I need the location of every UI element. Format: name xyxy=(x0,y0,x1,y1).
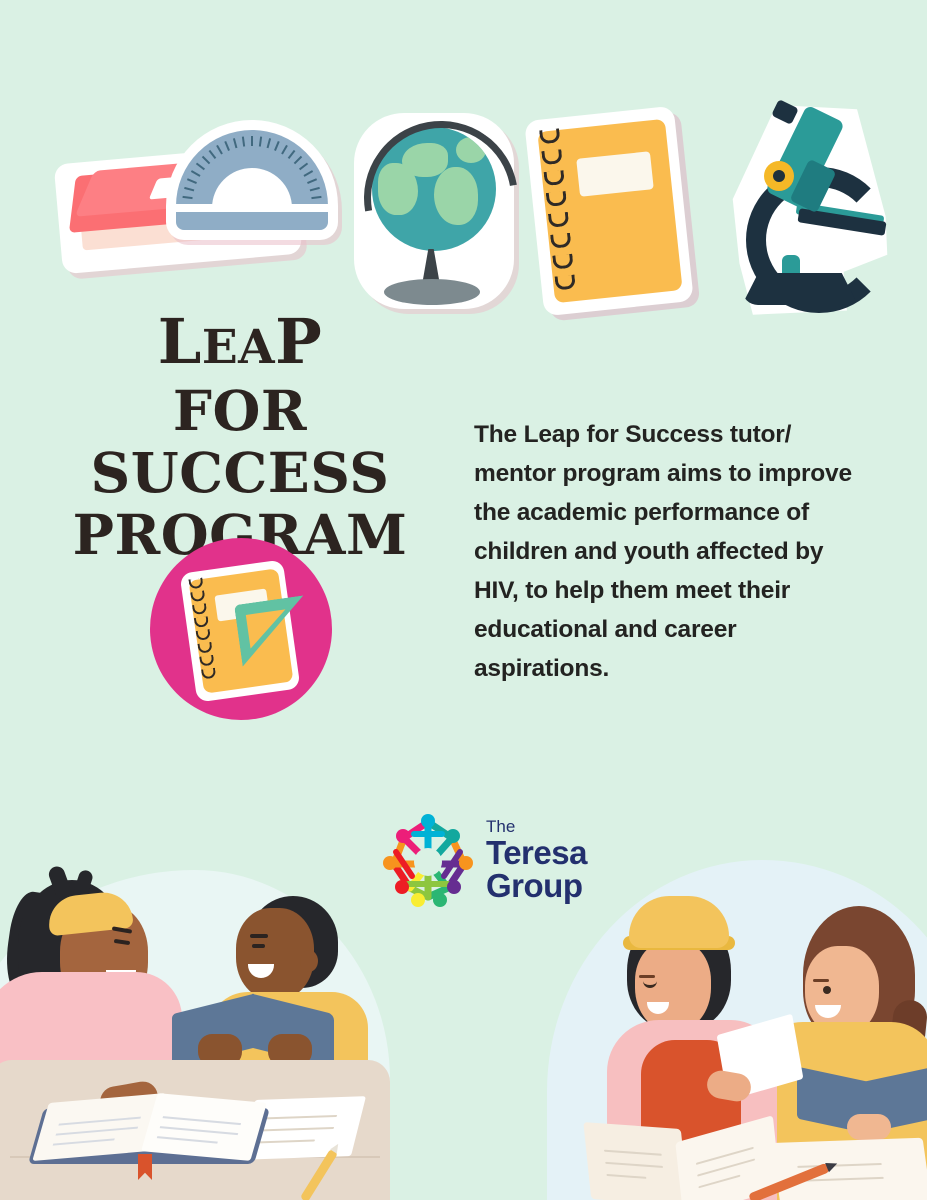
boy-ear xyxy=(300,950,318,972)
student2-eyebrow xyxy=(813,979,829,982)
poster-headline: LEAP FOR SUCCESS PROGRAM xyxy=(40,310,440,566)
program-description: The Leap for Success tutor/ mentor progr… xyxy=(474,415,874,688)
notebook-label xyxy=(576,151,654,197)
globe-base xyxy=(384,279,480,305)
boy-eyebrow xyxy=(250,934,268,938)
poster-canvas: LEAP FOR SUCCESS PROGRAM The Leap for Su… xyxy=(0,0,927,1200)
bottom-illustrations xyxy=(0,780,927,1200)
two-students-illustration xyxy=(527,840,927,1200)
microscope-focus-knob xyxy=(764,161,794,191)
protractor-base-line xyxy=(176,204,328,212)
microscope-base xyxy=(742,273,858,305)
notebook-and-set-square-badge xyxy=(150,538,332,720)
open-book-on-desk xyxy=(36,1090,266,1170)
right-open-book xyxy=(587,1126,777,1200)
tutor-and-student-illustration xyxy=(0,780,390,1200)
right-notebook xyxy=(772,1138,927,1200)
student1-beanie xyxy=(629,896,729,948)
student2-eye xyxy=(823,986,831,994)
notebook-icon xyxy=(534,113,696,315)
book-and-protractor-icon xyxy=(58,120,338,270)
set-square-inner-cutout xyxy=(246,609,290,648)
headline-line-for-success: FOR SUCCESS xyxy=(40,380,440,504)
right-book-left-page xyxy=(583,1122,688,1200)
boy-eye xyxy=(252,944,265,948)
microscope-icon xyxy=(726,105,896,323)
book-right-page xyxy=(141,1093,267,1161)
student1-eyebrow xyxy=(639,975,655,978)
globe-icon xyxy=(350,113,518,313)
top-icon-row xyxy=(0,55,927,275)
headline-line-leap: LEAP xyxy=(40,310,440,380)
student2-hand xyxy=(847,1114,891,1140)
